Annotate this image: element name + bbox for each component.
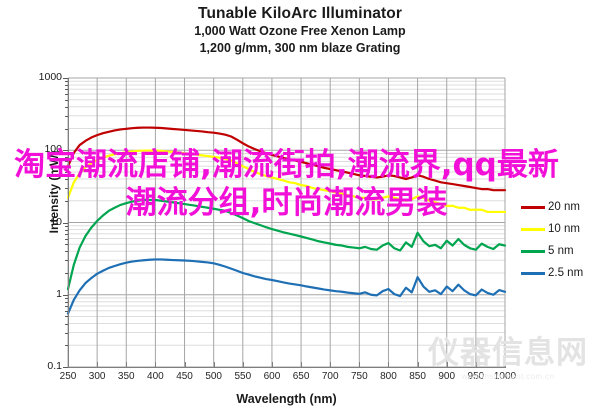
x-tick-mark — [126, 362, 127, 368]
y-minor-tick-mark — [65, 226, 68, 227]
y-tick-label: 1000 — [22, 71, 62, 83]
y-minor-tick-mark — [65, 188, 68, 189]
y-minor-tick-mark — [65, 201, 68, 202]
legend-color-swatch — [521, 272, 545, 275]
y-tick-mark — [63, 223, 68, 224]
x-tick-mark — [447, 362, 448, 368]
x-tick-label: 1000 — [488, 371, 522, 382]
legend-item-0[interactable]: 20 nm — [521, 196, 583, 218]
y-minor-tick-mark — [65, 316, 68, 317]
y-minor-tick-mark — [65, 251, 68, 252]
legend-color-swatch — [521, 206, 545, 209]
legend-label: 10 nm — [548, 223, 580, 235]
y-tick-mark — [63, 295, 68, 296]
legend-label: 20 nm — [548, 201, 580, 213]
x-tick-mark — [301, 362, 302, 368]
legend-label: 2.5 nm — [548, 267, 583, 279]
y-minor-tick-mark — [65, 166, 68, 167]
x-tick-mark — [243, 362, 244, 368]
y-minor-tick-mark — [65, 244, 68, 245]
y-minor-tick-mark — [65, 107, 68, 108]
y-minor-tick-mark — [65, 94, 68, 95]
y-minor-tick-mark — [65, 172, 68, 173]
y-minor-tick-mark — [65, 260, 68, 261]
legend-item-1[interactable]: 10 nm — [521, 218, 583, 240]
x-tick-mark — [68, 362, 69, 368]
x-tick-mark — [505, 362, 506, 368]
y-minor-tick-mark — [65, 161, 68, 162]
series-line-2-5-nm — [68, 259, 505, 313]
y-minor-tick-mark — [65, 234, 68, 235]
y-minor-tick-mark — [65, 100, 68, 101]
y-minor-tick-mark — [65, 306, 68, 307]
y-tick-mark — [63, 78, 68, 79]
x-tick-mark — [359, 362, 360, 368]
y-minor-tick-mark — [65, 345, 68, 346]
y-minor-tick-mark — [65, 298, 68, 299]
y-minor-tick-mark — [65, 154, 68, 155]
legend-label: 5 nm — [548, 245, 574, 257]
x-tick-mark — [330, 362, 331, 368]
y-minor-tick-mark — [65, 311, 68, 312]
y-minor-tick-mark — [65, 116, 68, 117]
y-tick-mark — [63, 150, 68, 151]
y-minor-tick-mark — [65, 81, 68, 82]
plot-canvas — [0, 0, 600, 416]
legend-item-3[interactable]: 2.5 nm — [521, 262, 583, 284]
x-tick-mark — [214, 362, 215, 368]
x-axis-line — [68, 367, 506, 368]
x-tick-mark — [476, 362, 477, 368]
y-minor-tick-mark — [65, 324, 68, 325]
y-axis-line — [68, 78, 69, 368]
x-tick-mark — [272, 362, 273, 368]
legend-item-2[interactable]: 5 nm — [521, 240, 583, 262]
y-minor-tick-mark — [65, 129, 68, 130]
y-minor-tick-mark — [65, 89, 68, 90]
y-minor-tick-mark — [65, 239, 68, 240]
y-minor-tick-mark — [65, 230, 68, 231]
y-minor-tick-mark — [65, 85, 68, 86]
legend-color-swatch — [521, 250, 545, 253]
chart-legend: 20 nm10 nm5 nm2.5 nm — [521, 196, 583, 284]
y-minor-tick-mark — [65, 333, 68, 334]
y-minor-tick-mark — [65, 302, 68, 303]
x-tick-mark — [418, 362, 419, 368]
x-tick-mark — [97, 362, 98, 368]
x-tick-mark — [388, 362, 389, 368]
y-minor-tick-mark — [65, 157, 68, 158]
y-axis-label: Intensity (mW) — [47, 132, 61, 252]
x-tick-mark — [185, 362, 186, 368]
y-minor-tick-mark — [65, 273, 68, 274]
x-tick-mark — [155, 362, 156, 368]
y-minor-tick-mark — [65, 179, 68, 180]
chart-container: Tunable KiloArc Illuminator 1,000 Watt O… — [0, 0, 600, 416]
x-axis-label: Wavelength (nm) — [68, 392, 505, 406]
y-tick-label: 1 — [22, 288, 62, 300]
legend-color-swatch — [521, 228, 545, 231]
